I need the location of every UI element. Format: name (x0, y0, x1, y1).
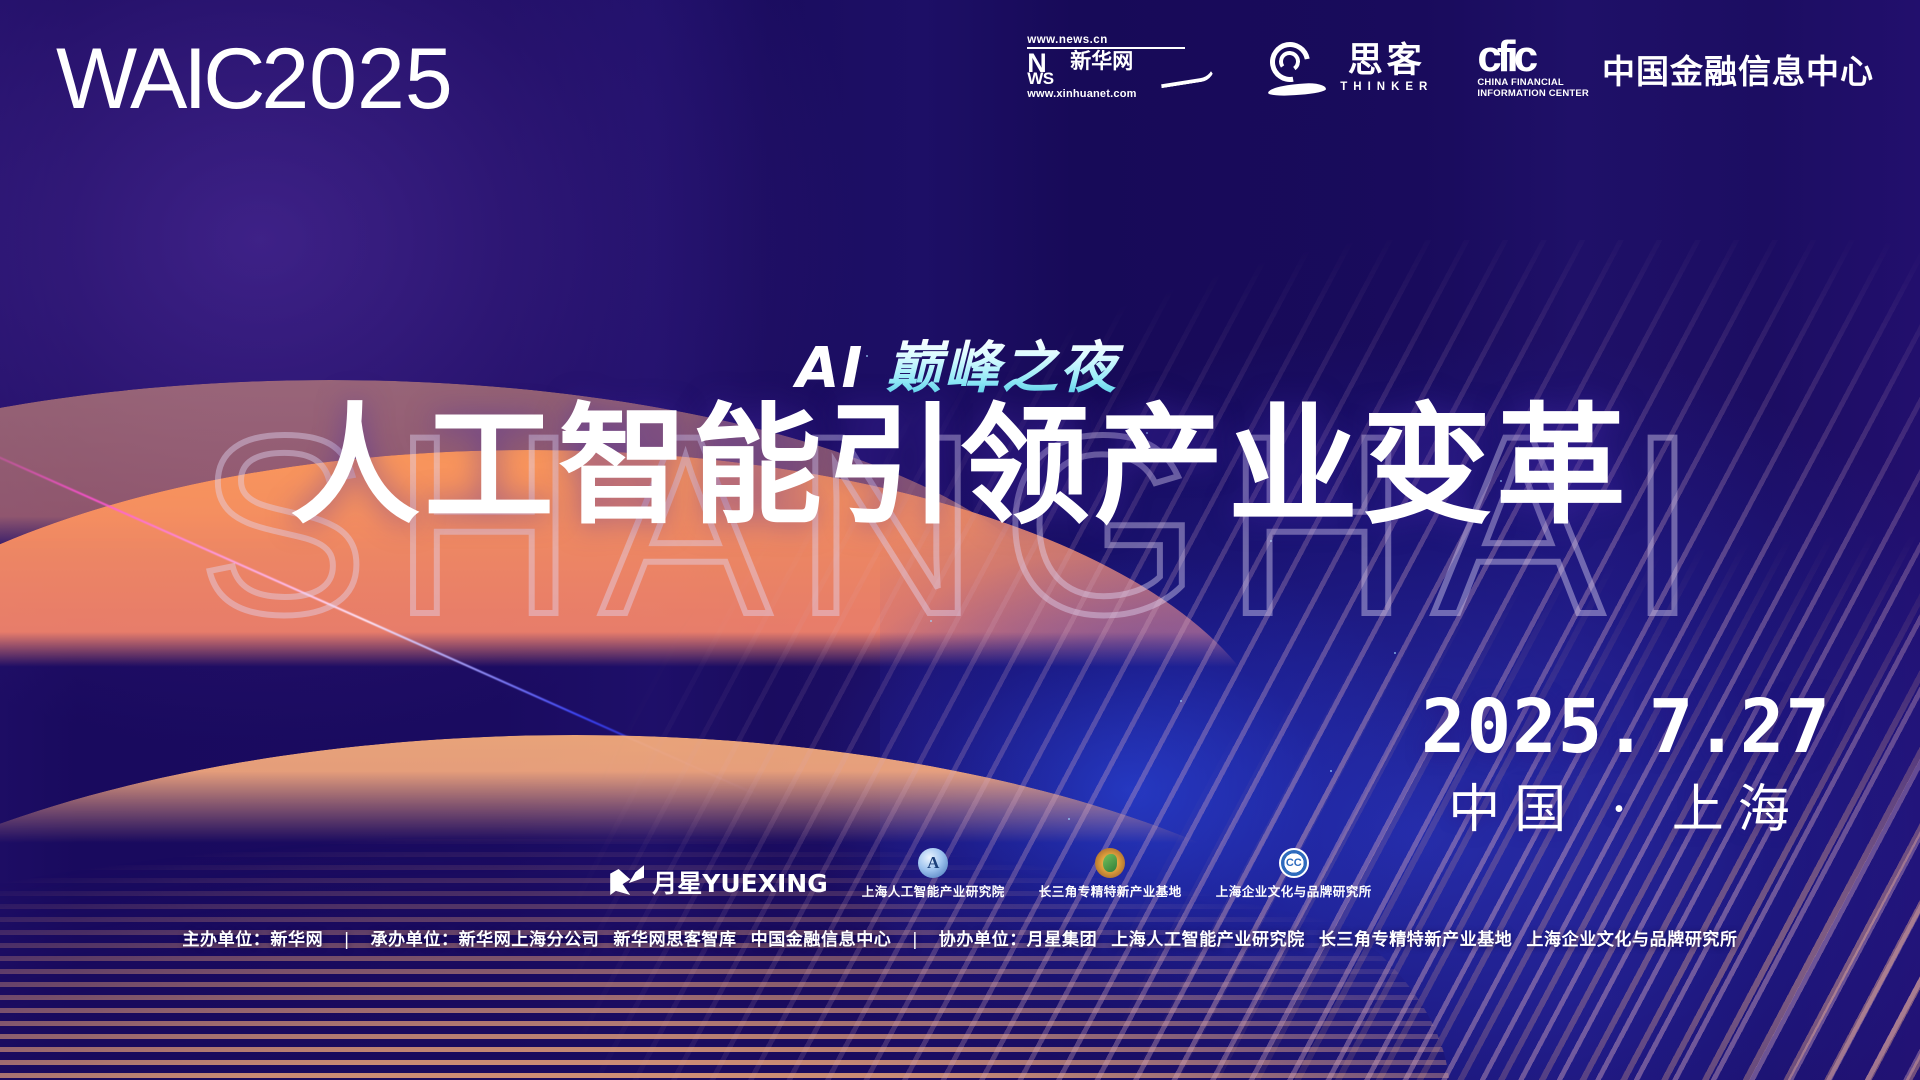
cfic-wordmark: cfic (1477, 38, 1589, 75)
xinhua-cn-name: 新华网 (1070, 51, 1133, 72)
waic-logo: WAIC2025 (56, 36, 453, 122)
credits-organizer-2: 新华网思客智库 (613, 930, 736, 950)
event-headline: 人工智能引领产业变革 (0, 395, 1920, 538)
xinhua-bottom-url: www.xinhuanet.com (1027, 88, 1222, 100)
thinker-text: 思客 THINKER (1340, 44, 1433, 93)
event-date: 2025.7.27 (1416, 690, 1836, 764)
date-location-block: 2025.7.27 中国 · 上海 (1416, 690, 1836, 836)
ai-institute-emblem-icon (918, 848, 948, 878)
credits-coorganizer-4: 上海企业文化与品牌研究所 (1526, 930, 1737, 950)
thinker-logo[interactable]: 思客 THINKER (1266, 34, 1433, 96)
cfic-logo[interactable]: cfic CHINA FINANCIAL INFORMATION CENTER … (1477, 34, 1874, 100)
event-location: 中国 · 上海 (1416, 784, 1836, 836)
credits-separator-2: | (898, 930, 932, 950)
waic-logo-year: 2025 (261, 31, 452, 127)
yuexing-star-icon (608, 865, 644, 899)
thinker-spiral-icon (1266, 40, 1328, 96)
credits-coorganizer-3: 长三角专精特新产业基地 (1319, 930, 1513, 950)
partner-logo-bar: www.news.cn N WS 新华网 www.xinhuanet.com 思… (1027, 34, 1874, 100)
header: WAIC2025 www.news.cn N WS 新华网 www.xinhua… (0, 0, 1920, 150)
sponsor-logo-ai-institute[interactable]: 上海人工智能产业研究院 (862, 848, 1005, 900)
xinhua-letters-ws: WS (1027, 71, 1069, 87)
sponsor-name: 上海企业文化与品牌研究所 (1216, 881, 1372, 900)
culture-brand-emblem-icon (1279, 848, 1309, 878)
cfic-cn-name: 中国金融信息中心 (1602, 45, 1874, 93)
poster-canvas: SHANGHAI WAIC2025 www.news.cn N WS 新华网 w… (0, 0, 1920, 1080)
credits-organizer-3: 中国金融信息中心 (751, 930, 892, 950)
sponsor-logo-row: 月星YUEXING 上海人工智能产业研究院 长三角专精特新产业基地 上海企业文化… (0, 848, 1920, 900)
cfic-en-name: CHINA FINANCIAL INFORMATION CENTER (1477, 78, 1589, 99)
xinhua-initials: N WS (1027, 51, 1069, 87)
sponsor-name: 上海人工智能产业研究院 (862, 881, 1005, 900)
credits-coorganizer-1: 月星集团 (1027, 930, 1097, 950)
cfic-en-line2: INFORMATION CENTER (1477, 89, 1589, 100)
xinhua-top-url: www.news.cn (1027, 34, 1185, 49)
sponsor-logo-yuexing[interactable]: 月星YUEXING (608, 864, 828, 900)
sponsor-name: 月星YUEXING (652, 864, 828, 900)
credits-host: 主办单位：新华网 (182, 930, 323, 950)
yangtze-delta-emblem-icon (1095, 848, 1125, 878)
credits-coorganizer-label: 协办单位： (939, 930, 1027, 950)
sponsor-name: 长三角专精特新产业基地 (1039, 881, 1182, 900)
sponsor-logo-culture-brand[interactable]: 上海企业文化与品牌研究所 (1216, 848, 1372, 900)
thinker-cn-name: 思客 (1340, 44, 1433, 79)
credits-separator-1: | (330, 930, 364, 950)
waic-logo-mark: WAIC (56, 31, 261, 127)
thinker-en-name: THINKER (1340, 81, 1433, 93)
xinhua-logo[interactable]: www.news.cn N WS 新华网 www.xinhuanet.com (1027, 34, 1222, 100)
cfic-mark: cfic CHINA FINANCIAL INFORMATION CENTER (1477, 38, 1589, 100)
credits-organizer-1: 新华网上海分公司 (459, 930, 600, 950)
credits-organizer-label: 承办单位： (371, 930, 459, 950)
credits-coorganizer-2: 上海人工智能产业研究院 (1111, 930, 1305, 950)
credits-line: 主办单位：新华网 | 承办单位：新华网上海分公司新华网思客智库中国金融信息中心 … (0, 925, 1920, 950)
sponsor-logo-yangtze-delta[interactable]: 长三角专精特新产业基地 (1039, 848, 1182, 900)
